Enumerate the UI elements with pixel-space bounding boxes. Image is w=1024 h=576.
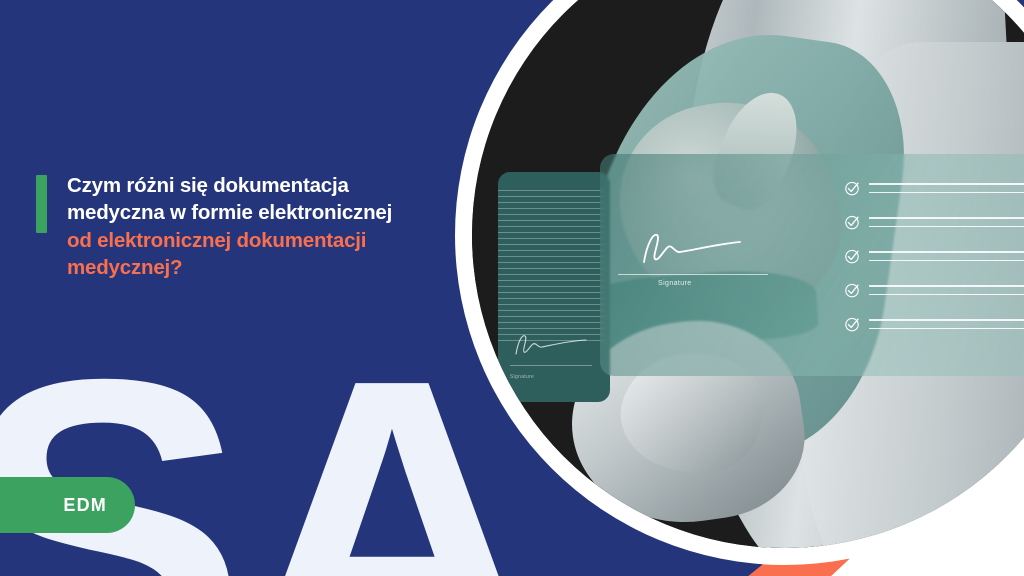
checklist-item (844, 180, 1024, 196)
watermark-letters: SA (0, 316, 537, 576)
headline-line-4: medycznej? (67, 254, 392, 281)
document-signature-label: Signature (510, 374, 534, 380)
checklist (844, 180, 1024, 332)
photo-content: Signature Signature (472, 0, 1024, 548)
headline-line-1: Czym różni się dokumentacja (67, 172, 392, 199)
document-signature-line (510, 365, 592, 366)
edm-badge-label: EDM (63, 495, 107, 516)
panel-signature-scribble-icon (636, 232, 746, 266)
slide-canvas: SA Sig (0, 0, 1024, 576)
document-card: Signature (498, 172, 610, 402)
check-circle-icon (844, 180, 860, 196)
panel-signature-line (618, 274, 768, 275)
checklist-item (844, 282, 1024, 298)
panel-signature-label: Signature (658, 280, 692, 287)
check-circle-icon (844, 248, 860, 264)
checklist-item (844, 316, 1024, 332)
hero-photo-circle: Signature Signature (472, 0, 1024, 548)
checklist-item-lines (869, 285, 1024, 294)
check-circle-icon (844, 214, 860, 230)
signature-checklist-panel: Signature (600, 154, 1024, 376)
edm-badge[interactable]: EDM (0, 477, 135, 533)
checklist-item-lines (869, 251, 1024, 260)
checklist-item-lines (869, 183, 1024, 192)
checklist-item-lines (869, 319, 1024, 328)
checklist-item (844, 248, 1024, 264)
headline-line-3: od elektronicznej dokumentacji (67, 227, 392, 254)
green-accent-bar (36, 175, 47, 233)
page-title: Czym różni się dokumentacja medyczna w f… (67, 172, 392, 281)
checklist-item (844, 214, 1024, 230)
headline-block: Czym różni się dokumentacja medyczna w f… (36, 172, 466, 281)
headline-line-2: medyczna w formie elektronicznej (67, 199, 392, 226)
checklist-item-lines (869, 217, 1024, 226)
check-circle-icon (844, 316, 860, 332)
signature-scribble-icon (510, 332, 590, 358)
check-circle-icon (844, 282, 860, 298)
document-rule-lines (498, 190, 604, 346)
